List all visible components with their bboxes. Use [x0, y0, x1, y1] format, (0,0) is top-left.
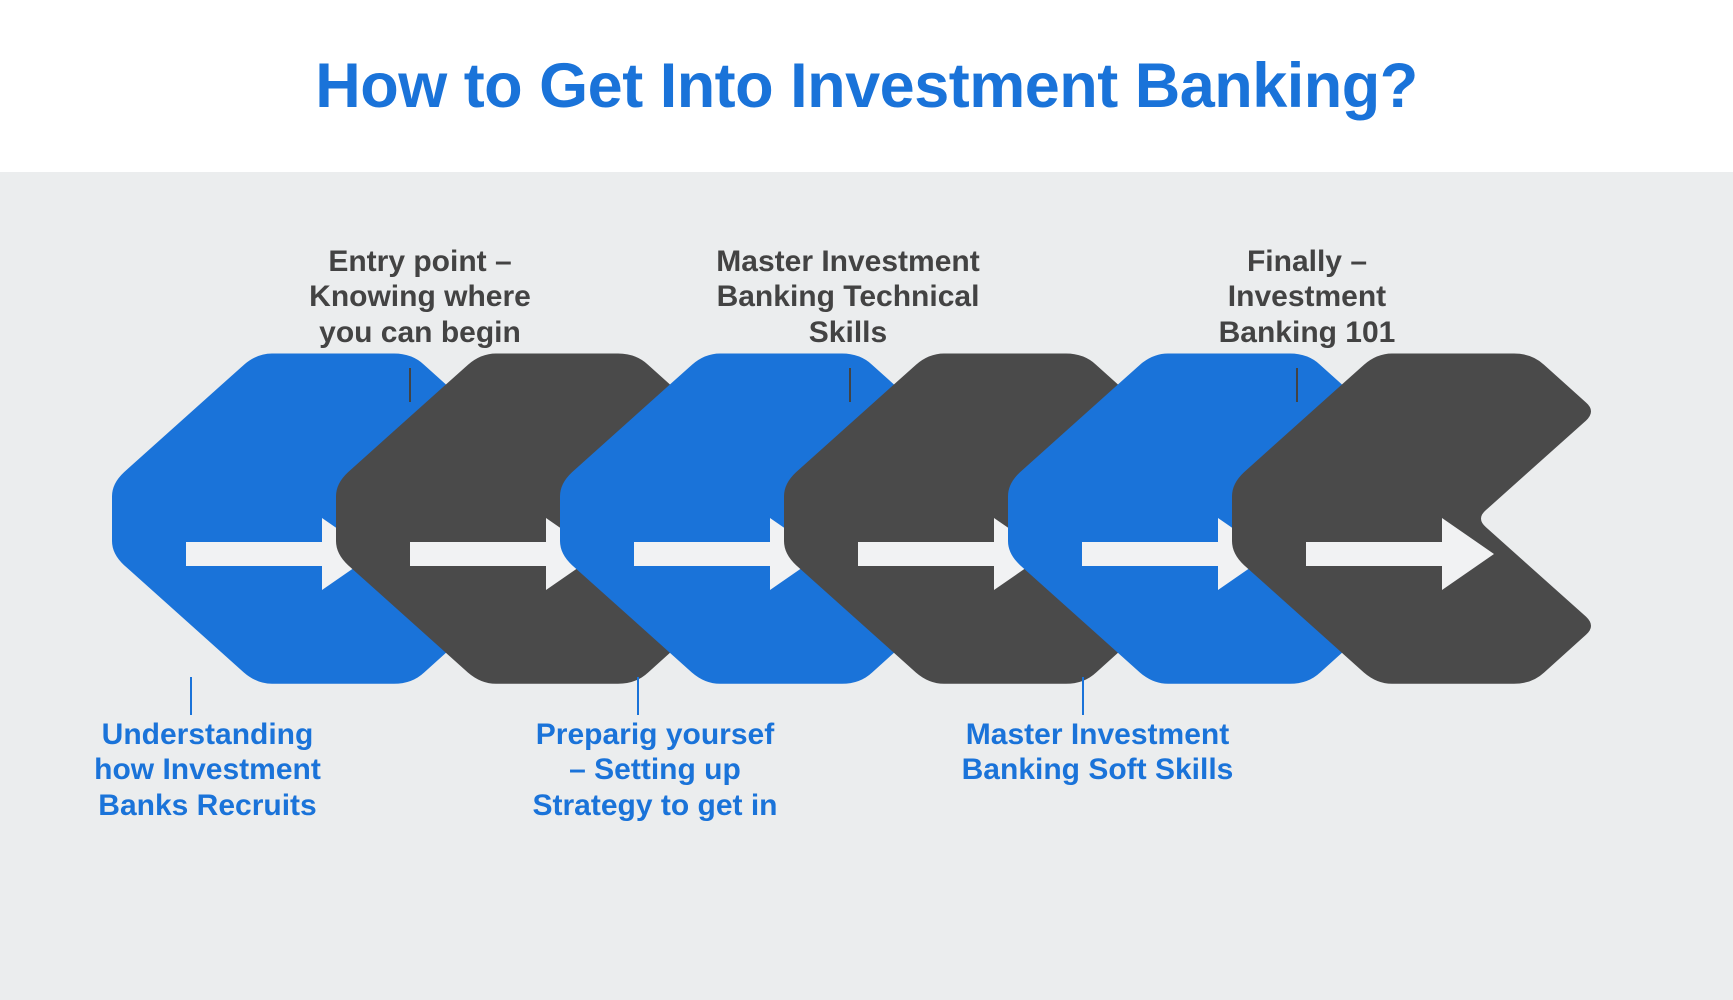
- flow-step-3-label: Preparig yoursef – Setting up Strategy t…: [505, 717, 805, 823]
- infographic-page: How to Get Into Investment Banking?: [0, 0, 1733, 1000]
- flow-step-4-label: Master Investment Banking Technical Skil…: [688, 244, 1008, 350]
- flow-step-6-connector: [1296, 368, 1298, 402]
- flow-step-6-label: Finally – Investment Banking 101: [1172, 244, 1442, 350]
- flow-step-4-connector: [849, 368, 851, 402]
- flow-step-5-connector: [1082, 677, 1084, 715]
- flow-step-3-connector: [637, 677, 639, 715]
- page-title: How to Get Into Investment Banking?: [0, 0, 1733, 172]
- flow-step-6-chevron[interactable]: [1214, 380, 1614, 720]
- flow-step-2-connector: [409, 368, 411, 402]
- chevron-arrow-icon: [1232, 354, 1591, 684]
- flow-step-5-label: Master Investment Banking Soft Skills: [925, 717, 1270, 788]
- flow-step-1-connector: [190, 677, 192, 715]
- flow-step-1-label: Understanding how Investment Banks Recru…: [60, 717, 355, 823]
- header-band: How to Get Into Investment Banking?: [0, 0, 1733, 172]
- flow-step-2-label: Entry point – Knowing where you can begi…: [275, 244, 565, 350]
- chevron-flow-diagram: Entry point – Knowing where you can begi…: [0, 172, 1733, 1000]
- diagram-panel: Entry point – Knowing where you can begi…: [0, 172, 1733, 1000]
